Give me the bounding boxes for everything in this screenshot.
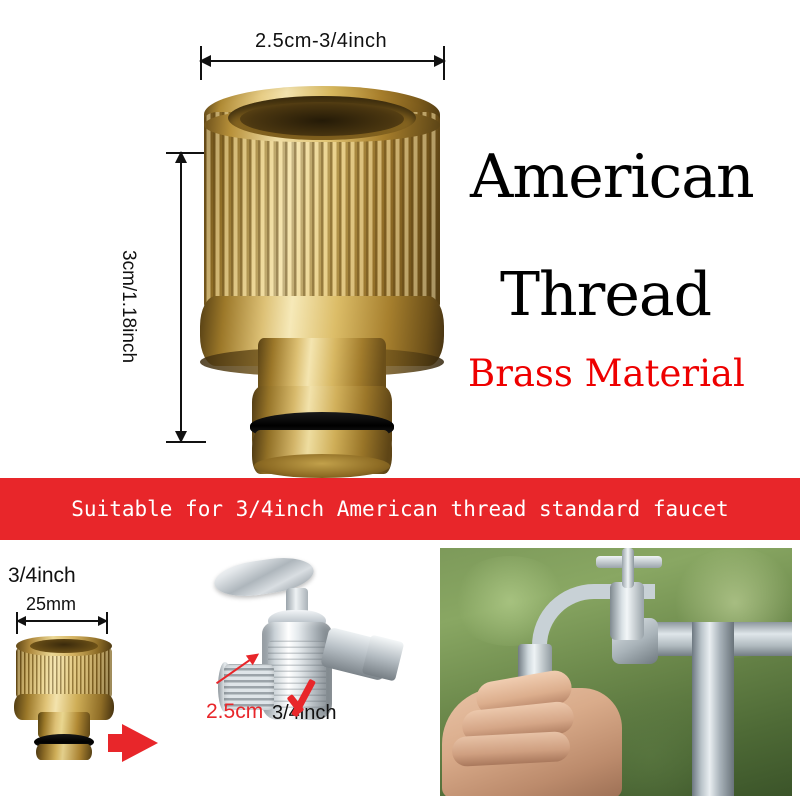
photo-faucet-handle-stem: [622, 548, 634, 588]
top-dimension-arrow-icon: [200, 60, 445, 62]
fitting-inner-bore-deep: [240, 102, 404, 136]
bottom-left-dimension-arrow-icon: [16, 620, 108, 622]
small-fitting-bore: [30, 639, 98, 653]
photo-finger-3: [451, 731, 570, 767]
bottom-left-dimension-label: 25mm: [26, 594, 76, 615]
top-dimension-label: 2.5cm-3/4inch: [255, 30, 387, 53]
side-dimension-label: 3cm/1.18inch: [117, 250, 139, 363]
photo-vertical-pipe: [692, 622, 734, 796]
red-right-arrow-icon: [122, 724, 158, 762]
faucet-measure-label-red: 2.5cm: [206, 700, 263, 724]
headline-line-2: Thread: [500, 260, 711, 330]
photo-faucet-body: [610, 582, 644, 640]
fitting-knurled-body: [204, 112, 440, 312]
small-fitting-bottom: [36, 744, 92, 760]
product-infographic: 2.5cm-3/4inch 3cm/1.18inch American Thre…: [0, 0, 800, 800]
compatibility-banner: Suitable for 3/4inch American thread sta…: [0, 478, 800, 540]
compatibility-banner-text: Suitable for 3/4inch American thread sta…: [71, 497, 728, 521]
brass-fitting-main-image: [196, 86, 448, 456]
side-dimension-arrow-icon: [180, 152, 182, 442]
installation-photo: [440, 548, 792, 796]
headline-line-1: American: [470, 142, 754, 212]
red-check-icon: [288, 676, 330, 722]
material-label: Brass Material: [468, 352, 745, 395]
chrome-faucet-icon: [190, 548, 430, 798]
top-product-section: 2.5cm-3/4inch 3cm/1.18inch American Thre…: [0, 0, 800, 478]
bottom-left-size-label: 3/4inch: [8, 564, 76, 588]
fitting-bottom-face: [254, 454, 390, 478]
brass-fitting-small-icon: [16, 636, 112, 764]
